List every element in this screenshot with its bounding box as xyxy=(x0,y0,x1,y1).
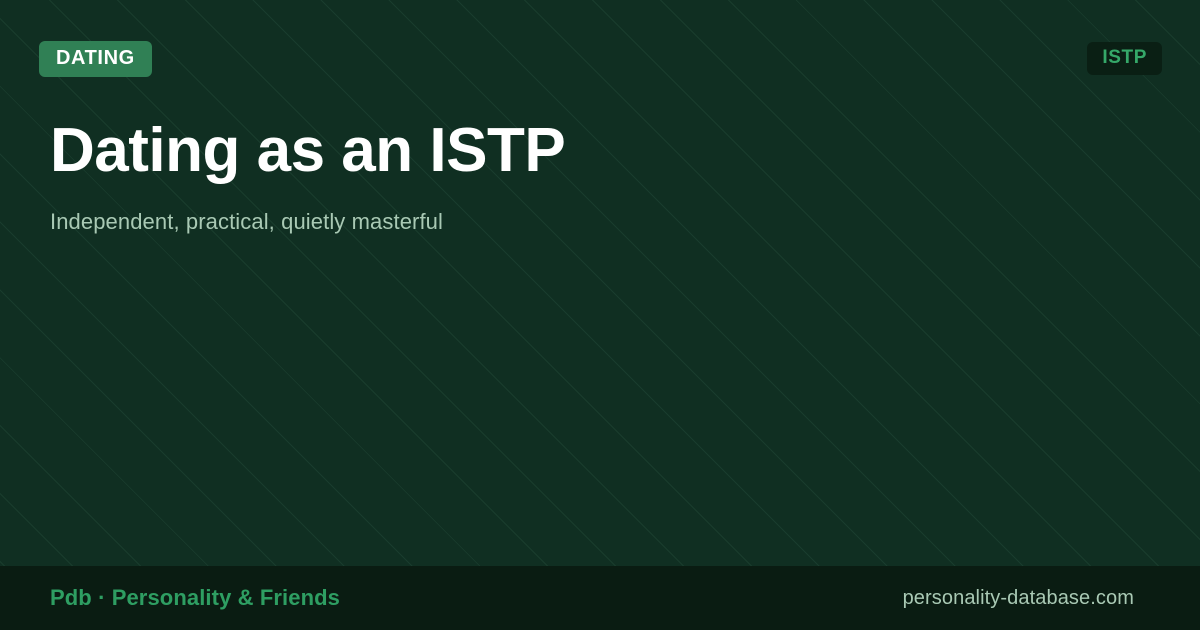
page-subtitle: Independent, practical, quietly masterfu… xyxy=(50,208,910,237)
footer-site-url: personality-database.com xyxy=(903,587,1134,610)
footer-bar: Pdb · Personality & Friends personality-… xyxy=(0,566,1200,630)
badge-row: DATING ISTP xyxy=(39,41,1162,77)
footer-brand-label: Pdb · Personality & Friends xyxy=(50,585,340,611)
page-title: Dating as an ISTP xyxy=(50,118,910,185)
category-badge[interactable]: DATING xyxy=(39,41,152,77)
headline-block: Dating as an ISTP Independent, practical… xyxy=(50,118,910,237)
og-card: DATING ISTP Dating as an ISTP Independen… xyxy=(0,0,1200,630)
personality-type-badge[interactable]: ISTP xyxy=(1087,42,1162,75)
background-texture xyxy=(0,0,1200,630)
